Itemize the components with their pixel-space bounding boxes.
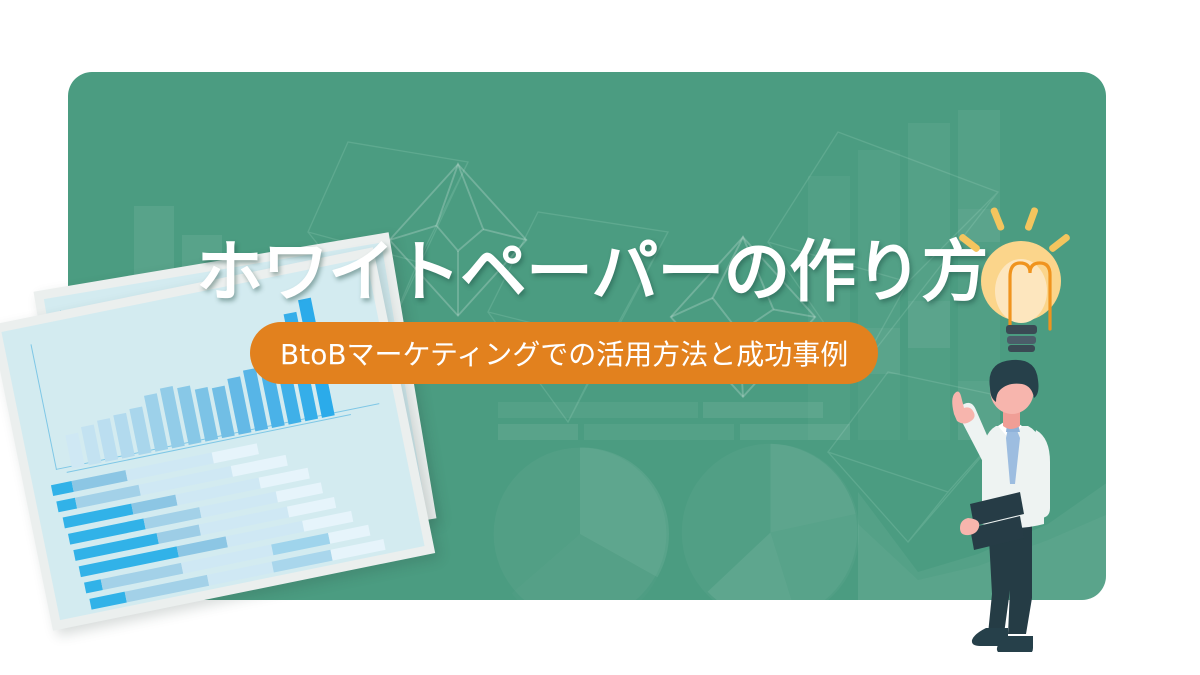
subtitle-text: BtoBマーケティングでの活用方法と成功事例 bbox=[280, 333, 848, 373]
page-title: ホワイトペーパーの作り方 bbox=[196, 218, 987, 315]
businessman-pointing-icon bbox=[936, 352, 1084, 652]
lightbulb-icon bbox=[962, 205, 1080, 365]
banner-canvas: ホワイトペーパーの作り方 BtoBマーケティングでの活用方法と成功事例 bbox=[0, 0, 1200, 675]
subtitle-pill: BtoBマーケティングでの活用方法と成功事例 bbox=[250, 322, 878, 384]
watermark-chart-pie-right bbox=[678, 440, 863, 600]
stacked-documents-icon bbox=[0, 255, 520, 675]
